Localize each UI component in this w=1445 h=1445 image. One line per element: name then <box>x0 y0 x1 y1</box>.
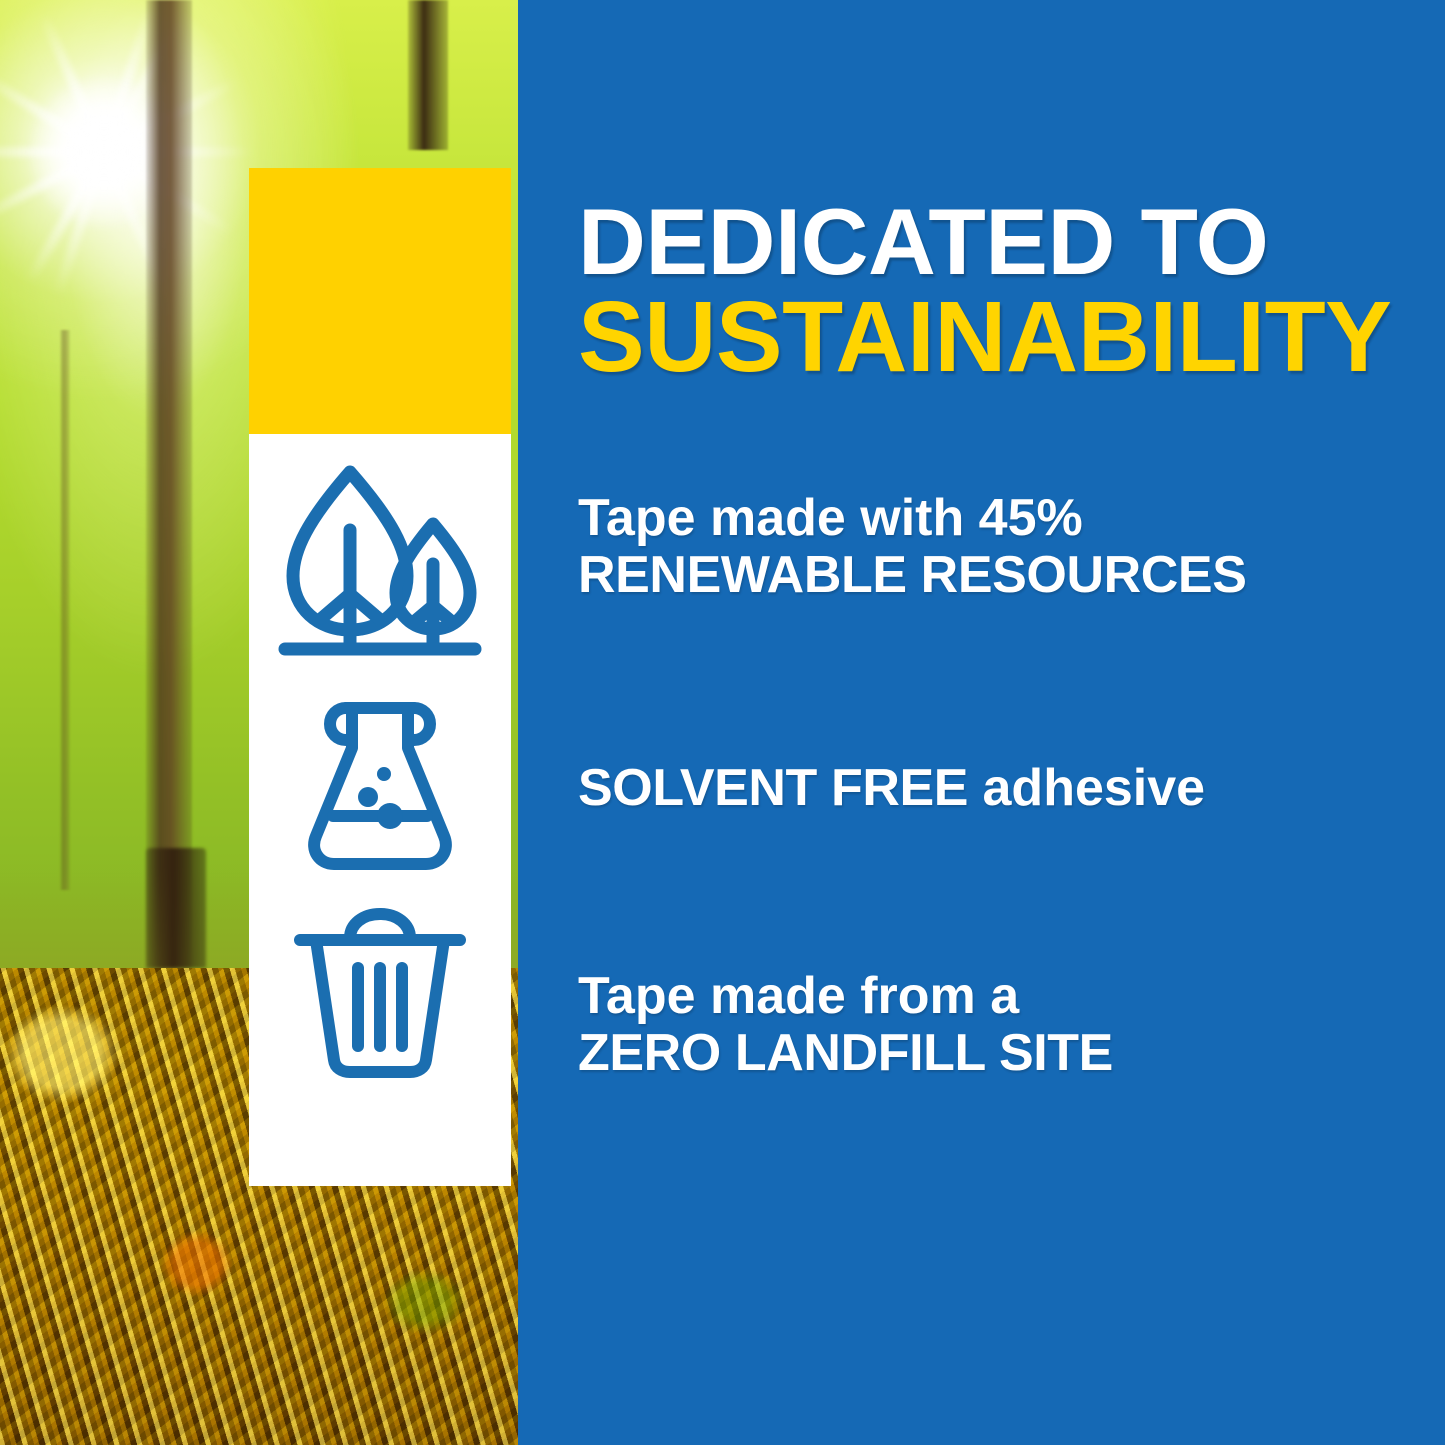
benefit-landfill-bold: ZERO LANDFILL SITE <box>578 1025 1113 1082</box>
tree-trunk-base <box>146 848 206 968</box>
benefit-solvent-free: SOLVENT FREE adhesive <box>578 760 1205 817</box>
benefit-renewable-bold: RENEWABLE RESOURCES <box>578 547 1246 604</box>
icon-card <box>249 168 511 1186</box>
blue-content-panel: DEDICATED TO SUSTAINABILITY Tape made wi… <box>518 0 1445 1445</box>
trash-bin-icon <box>290 902 470 1082</box>
tree-trunk <box>408 0 448 150</box>
benefit-zero-landfill: Tape made from a ZERO LANDFILL SITE <box>578 968 1113 1082</box>
benefit-solvent-regular: adhesive <box>968 759 1205 817</box>
headline-line-2: SUSTAINABILITY <box>578 288 1438 386</box>
benefit-renewable-resources: Tape made with 45% RENEWABLE RESOURCES <box>578 490 1246 604</box>
headline-line-1: DEDICATED TO <box>578 196 1438 288</box>
leaves-plants-icon <box>275 458 485 670</box>
yellow-header-block <box>249 168 511 434</box>
benefit-landfill-regular: Tape made from a <box>578 968 1113 1025</box>
tree-trunk <box>60 330 70 890</box>
benefit-renewable-regular: Tape made with 45% <box>578 490 1246 547</box>
headline-block: DEDICATED TO SUSTAINABILITY <box>578 196 1438 386</box>
flask-icon <box>300 696 460 876</box>
benefit-solvent-bold: SOLVENT FREE <box>578 759 968 817</box>
icon-column <box>249 434 511 1186</box>
promo-graphic: DEDICATED TO SUSTAINABILITY Tape made wi… <box>0 0 1445 1445</box>
